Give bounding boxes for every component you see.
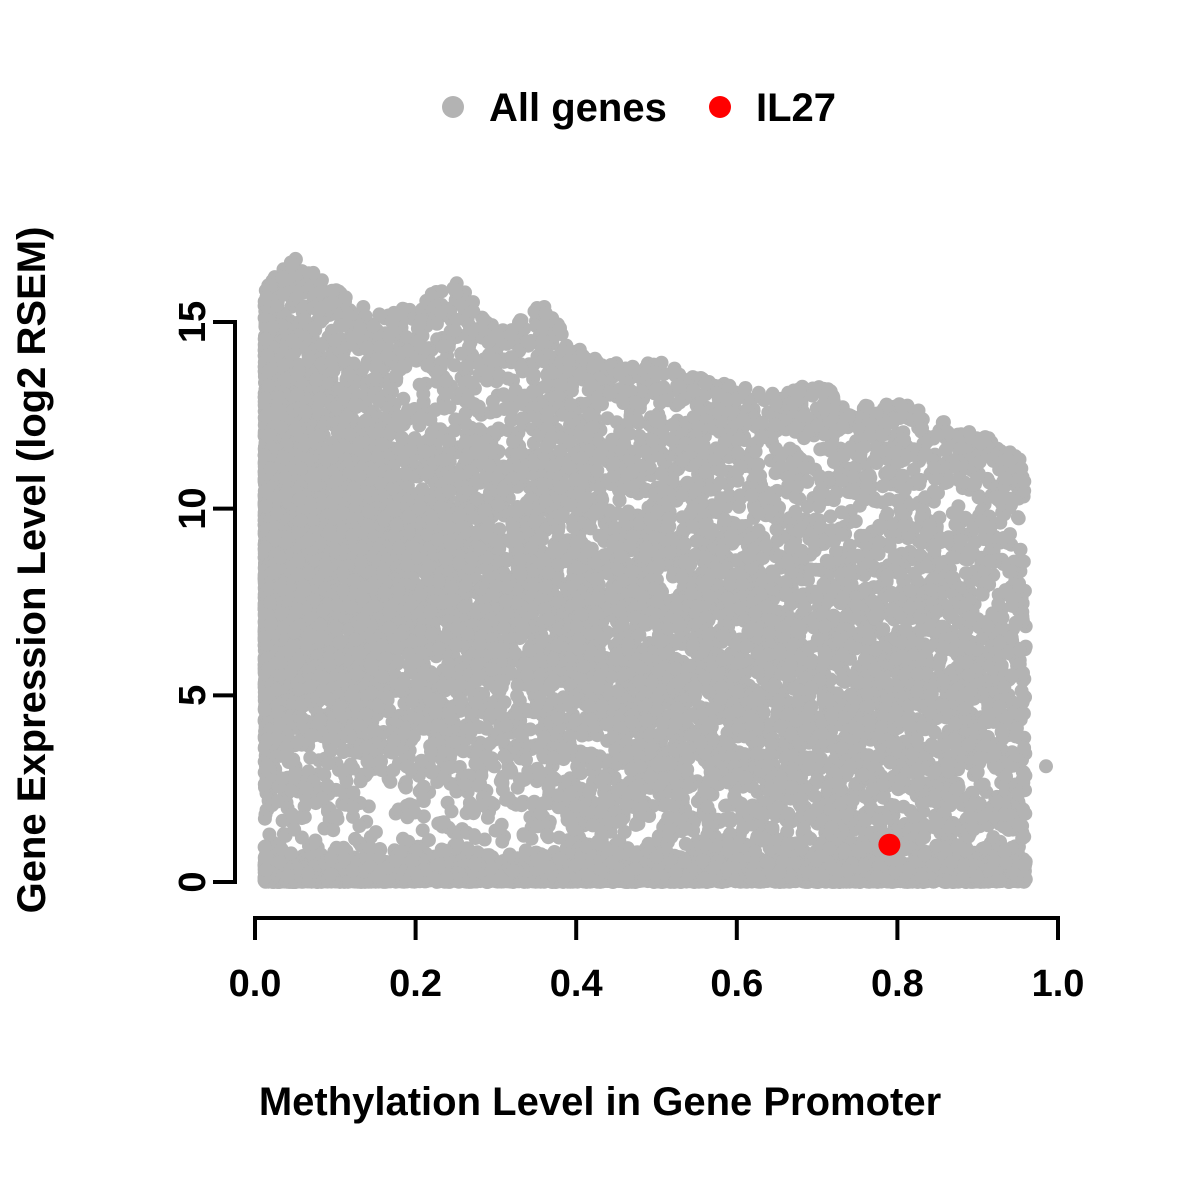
il27-data-point — [878, 834, 900, 856]
x-axis-tick-label: 0.4 — [550, 963, 603, 1005]
x-axis-tick-label: 0.2 — [389, 963, 442, 1005]
x-axis-tick-label: 0.6 — [710, 963, 763, 1005]
y-axis-tick-label: 5 — [172, 685, 214, 706]
plot-canvas: 051015 0.00.20.40.60.81.0 Methylation Le… — [0, 0, 1200, 1200]
x-axis-tick-label: 1.0 — [1032, 963, 1085, 1005]
x-axis-title: Methylation Level in Gene Promoter — [259, 1080, 941, 1124]
y-axis-title: Gene Expression Level (log2 RSEM) — [10, 227, 54, 914]
legend-marker-il27 — [709, 96, 731, 118]
legend-label-all-genes: All genes — [489, 86, 667, 130]
y-axis-tick-label: 15 — [172, 301, 214, 343]
legend-marker-all-genes — [442, 96, 464, 118]
y-axis-tick-label: 0 — [172, 871, 214, 892]
legend-label-il27: IL27 — [756, 86, 836, 130]
legend: All genes IL27 — [442, 86, 836, 130]
series-il27-points — [878, 834, 900, 856]
scatter-plot-figure: 051015 0.00.20.40.60.81.0 Methylation Le… — [0, 0, 1200, 1200]
x-axis-tick-label: 0.0 — [229, 963, 282, 1005]
x-axis-tick-label: 0.8 — [871, 963, 924, 1005]
y-axis-tick-label: 10 — [172, 488, 214, 530]
